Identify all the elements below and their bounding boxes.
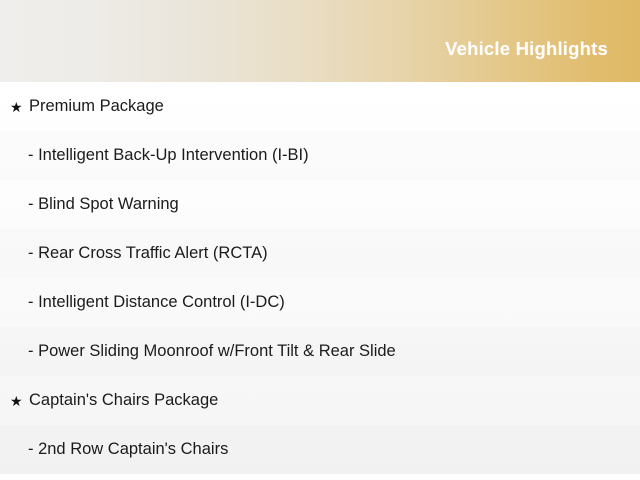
list-item-label: - Rear Cross Traffic Alert (RCTA) (28, 244, 268, 264)
star-icon: ★ (10, 100, 29, 114)
highlights-list: ★ Premium Package - Intelligent Back-Up … (0, 82, 640, 474)
list-item[interactable]: ★ Captain's Chairs Package (0, 376, 640, 425)
list-item-label: - Power Sliding Moonroof w/Front Tilt & … (28, 342, 396, 362)
list-item[interactable]: - 2nd Row Captain's Chairs (0, 425, 640, 474)
list-item-label: Captain's Chairs Package (29, 391, 218, 411)
list-item-label: - Blind Spot Warning (28, 195, 179, 215)
list-item-label: Premium Package (29, 97, 164, 117)
list-item[interactable]: - Power Sliding Moonroof w/Front Tilt & … (0, 327, 640, 376)
page-header-banner: Vehicle Highlights (0, 0, 640, 82)
list-item-label: - Intelligent Back-Up Intervention (I-BI… (28, 146, 309, 166)
list-item[interactable]: - Intelligent Back-Up Intervention (I-BI… (0, 131, 640, 180)
list-item-label: - 2nd Row Captain's Chairs (28, 440, 228, 460)
vehicle-highlights-page: Vehicle Highlights ★ Premium Package - I… (0, 0, 640, 480)
page-title: Vehicle Highlights (445, 22, 640, 60)
list-item[interactable]: - Blind Spot Warning (0, 180, 640, 229)
list-item[interactable]: - Rear Cross Traffic Alert (RCTA) (0, 229, 640, 278)
list-item[interactable]: - Intelligent Distance Control (I-DC) (0, 278, 640, 327)
list-item-label: - Intelligent Distance Control (I-DC) (28, 293, 285, 313)
star-icon: ★ (10, 394, 29, 408)
list-item[interactable]: ★ Premium Package (0, 82, 640, 131)
